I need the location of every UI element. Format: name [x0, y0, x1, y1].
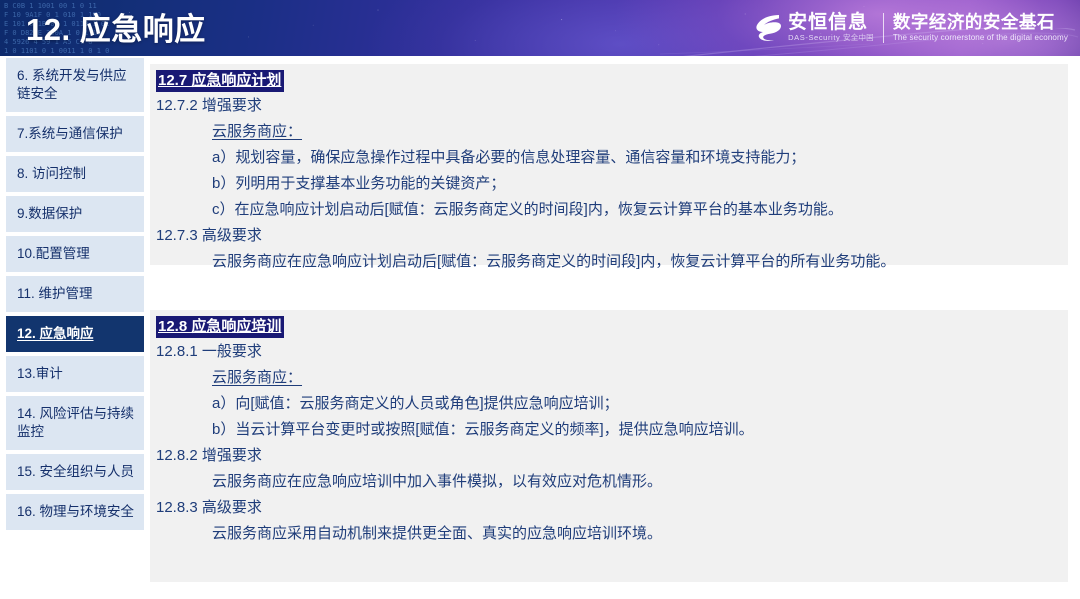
sidebar-item-label: 13.审计: [17, 365, 63, 383]
body-text-12-8-3: 云服务商应采用自动机制来提供更全面、真实的应急响应培训环境。: [212, 521, 1058, 547]
lead-text-12-8-1: 云服务商应：: [212, 365, 302, 391]
subsection-heading-12-8-2: 12.8.2 增强要求: [156, 443, 1058, 469]
lead-text-12-7-2: 云服务商应：: [212, 119, 302, 145]
sidebar-item-label: 6. 系统开发与供应链安全: [17, 67, 135, 103]
lead-row-12-8-1: 云服务商应：: [154, 365, 1058, 391]
sidebar-item-16[interactable]: 16. 物理与环境安全: [6, 494, 144, 530]
brand-name-en-text: DAS-Security: [788, 33, 840, 42]
sidebar-item-6[interactable]: 6. 系统开发与供应链安全: [6, 58, 144, 112]
sidebar-item-10[interactable]: 10.配置管理: [6, 236, 144, 272]
list-item-12-7-2-c: c）在应急响应计划启动后[赋值：云服务商定义的时间段]内，恢复云计算平台的基本业…: [212, 197, 1058, 223]
brand-name-cn: 安恒信息: [788, 13, 874, 33]
sidebar-item-label: 16. 物理与环境安全: [17, 503, 134, 521]
sidebar-item-8[interactable]: 8. 访问控制: [6, 156, 144, 192]
subsection-heading-12-8-1: 12.8.1 一般要求: [156, 339, 1058, 365]
das-security-swoosh-logo-icon: [753, 12, 783, 44]
sidebar-item-label: 10.配置管理: [17, 245, 90, 263]
sidebar-item-12-active[interactable]: 12. 应急响应: [6, 316, 144, 352]
brand-logo-group: 安恒信息 DAS-Security 安全中国 数字经济的安全基石 The sec…: [753, 7, 1068, 49]
body-text-12-7-3: 云服务商应在应急响应计划启动后[赋值：云服务商定义的时间段]内，恢复云计算平台的…: [212, 249, 1058, 275]
section-heading-12-7: 12.7 应急响应计划: [156, 70, 284, 92]
sidebar-item-11[interactable]: 11. 维护管理: [6, 276, 144, 312]
sidebar-item-label: 7.系统与通信保护: [17, 125, 123, 143]
brand-name-en: DAS-Security 安全中国: [788, 33, 874, 43]
body-text-12-8-2: 云服务商应在应急响应培训中加入事件模拟，以有效应对危机情形。: [212, 469, 1058, 495]
list-item-12-7-2-b: b）列明用于支撑基本业务功能的关键资产；: [212, 171, 1058, 197]
list-item-12-8-1-a: a）向[赋值：云服务商定义的人员或角色]提供应急响应培训；: [212, 391, 1058, 417]
sidebar-item-14[interactable]: 14. 风险评估与持续监控: [6, 396, 144, 450]
sidebar-item-7[interactable]: 7.系统与通信保护: [6, 116, 144, 152]
subsection-heading-12-7-3: 12.7.3 高级要求: [156, 223, 1058, 249]
list-item-12-8-1-b: b）当云计算平台变更时或按照[赋值：云服务商定义的频率]，提供应急响应培训。: [212, 417, 1058, 443]
section-navigation-sidebar[interactable]: 6. 系统开发与供应链安全 7.系统与通信保护 8. 访问控制 9.数据保护 1…: [6, 58, 144, 534]
section-heading-12-8: 12.8 应急响应培训: [156, 316, 284, 338]
brand-name-cn-mark: 安全中国: [843, 33, 874, 42]
subsection-heading-12-8-3: 12.8.3 高级要求: [156, 495, 1058, 521]
sidebar-item-label: 14. 风险评估与持续监控: [17, 405, 135, 441]
lead-row-12-7-2: 云服务商应：: [154, 119, 1058, 145]
sidebar-item-label: 8. 访问控制: [17, 165, 86, 183]
sidebar-item-label: 15. 安全组织与人员: [17, 463, 134, 481]
slide-header-banner: B C0B 1 1001 00 1 0 11 F 10 9A1F 0 1 010…: [0, 0, 1080, 56]
list-item-12-7-2-a: a）规划容量，确保应急操作过程中具备必要的信息处理容量、通信容量和环境支持能力；: [212, 145, 1058, 171]
sidebar-item-label: 12. 应急响应: [17, 325, 94, 343]
subsection-heading-12-7-2: 12.7.2 增强要求: [156, 93, 1058, 119]
sidebar-item-15[interactable]: 15. 安全组织与人员: [6, 454, 144, 490]
content-panel-section-12-8: 12.8 应急响应培训 12.8.1 一般要求 云服务商应： a）向[赋值：云服…: [150, 310, 1068, 582]
sidebar-item-13[interactable]: 13.审计: [6, 356, 144, 392]
tagline-en: The security cornerstone of the digital …: [893, 32, 1068, 43]
sidebar-item-label: 9.数据保护: [17, 205, 82, 223]
sidebar-item-label: 11. 维护管理: [17, 285, 93, 303]
content-panel-section-12-7: 12.7 应急响应计划 12.7.2 增强要求 云服务商应： a）规划容量，确保…: [150, 64, 1068, 265]
tagline-cn: 数字经济的安全基石: [893, 13, 1068, 32]
sidebar-item-9[interactable]: 9.数据保护: [6, 196, 144, 232]
page-title: 12. 应急响应: [26, 4, 206, 49]
logo-divider: [883, 13, 884, 43]
